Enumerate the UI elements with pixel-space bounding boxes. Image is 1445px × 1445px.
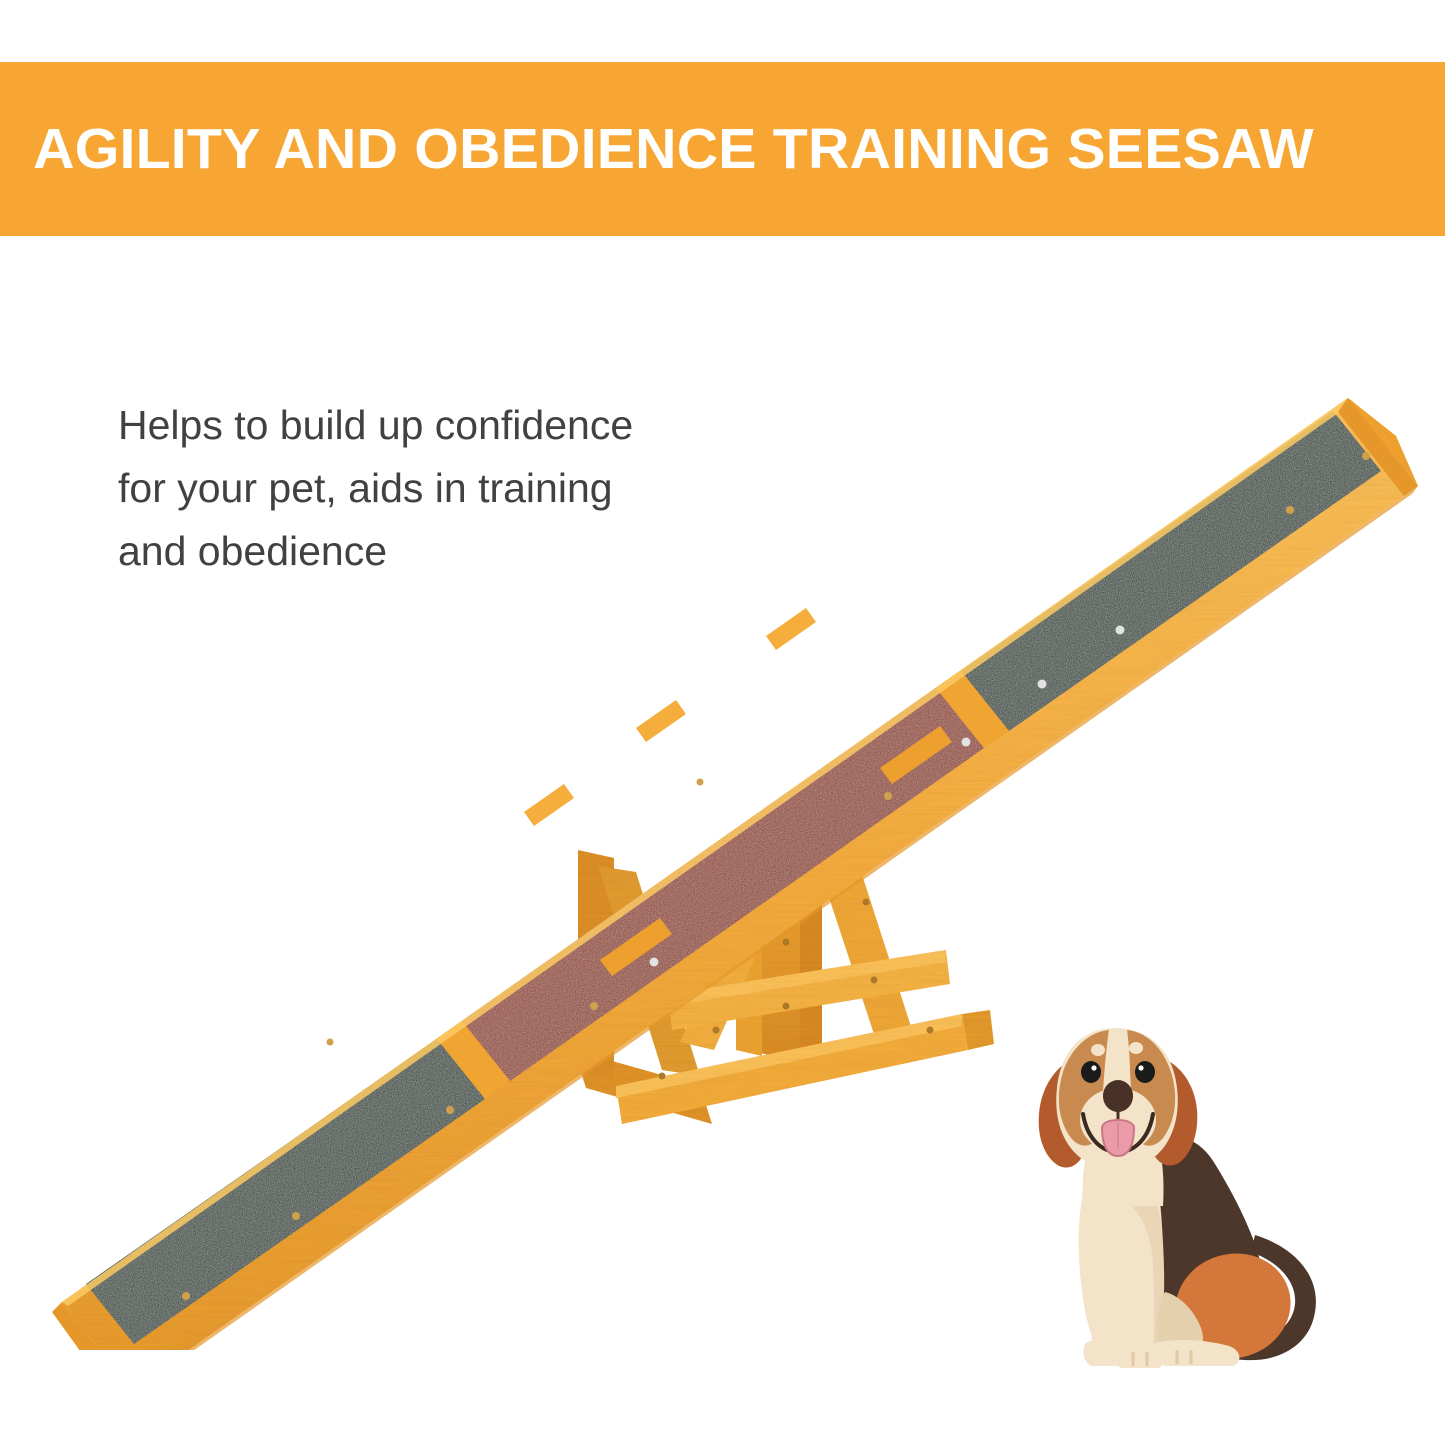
- screw-icon: [182, 1292, 190, 1300]
- dog-eye-right: [1135, 1061, 1155, 1083]
- dog-eye-left: [1081, 1061, 1101, 1083]
- screw-icon: [927, 1027, 934, 1034]
- dog-eyebrow-spot-right: [1129, 1042, 1143, 1054]
- dog-eye-right-highlight: [1138, 1065, 1143, 1070]
- infographic-page: AGILITY AND OBEDIENCE TRAINING SEESAW He…: [0, 0, 1445, 1445]
- screw-icon: [962, 738, 971, 747]
- screw-icon: [1116, 626, 1125, 635]
- rail-stop-tab-upper: [766, 608, 816, 650]
- dog-front-leg-right: [1122, 1250, 1155, 1352]
- beagle-sitting-illustration: [1005, 1010, 1335, 1400]
- screw-icon: [446, 1106, 454, 1114]
- header-banner: AGILITY AND OBEDIENCE TRAINING SEESAW: [0, 62, 1445, 236]
- dog-eyebrow-spot-left: [1091, 1044, 1105, 1056]
- lower-green-traction-panel: [86, 1039, 485, 1344]
- screw-icon: [590, 1002, 598, 1010]
- dog-nose: [1103, 1080, 1133, 1112]
- rail-stop-tab-mid: [636, 700, 686, 742]
- screw-icon: [650, 958, 659, 967]
- screw-icon: [783, 939, 790, 946]
- dog-illustration: [1005, 1010, 1335, 1400]
- dog-front-paw-right: [1114, 1341, 1166, 1368]
- upper-green-traction-panel: [961, 411, 1381, 731]
- screw-icon: [659, 1073, 666, 1080]
- screw-icon: [863, 899, 870, 906]
- page-title: AGILITY AND OBEDIENCE TRAINING SEESAW: [0, 121, 1314, 178]
- screw-icon: [1038, 680, 1047, 689]
- rail-stop-tab-lower: [524, 784, 574, 826]
- screw-icon: [871, 977, 878, 984]
- screw-icon: [713, 1027, 720, 1034]
- screw-icon: [1362, 452, 1370, 460]
- screw-icon: [327, 1039, 334, 1046]
- screw-icon: [783, 1003, 790, 1010]
- screw-icon: [884, 792, 892, 800]
- dog-eye-left-highlight: [1091, 1065, 1096, 1070]
- screw-icon: [292, 1212, 300, 1220]
- screw-icon: [697, 779, 704, 786]
- dog-front-leg-left: [1090, 1248, 1122, 1350]
- screw-icon: [1286, 506, 1294, 514]
